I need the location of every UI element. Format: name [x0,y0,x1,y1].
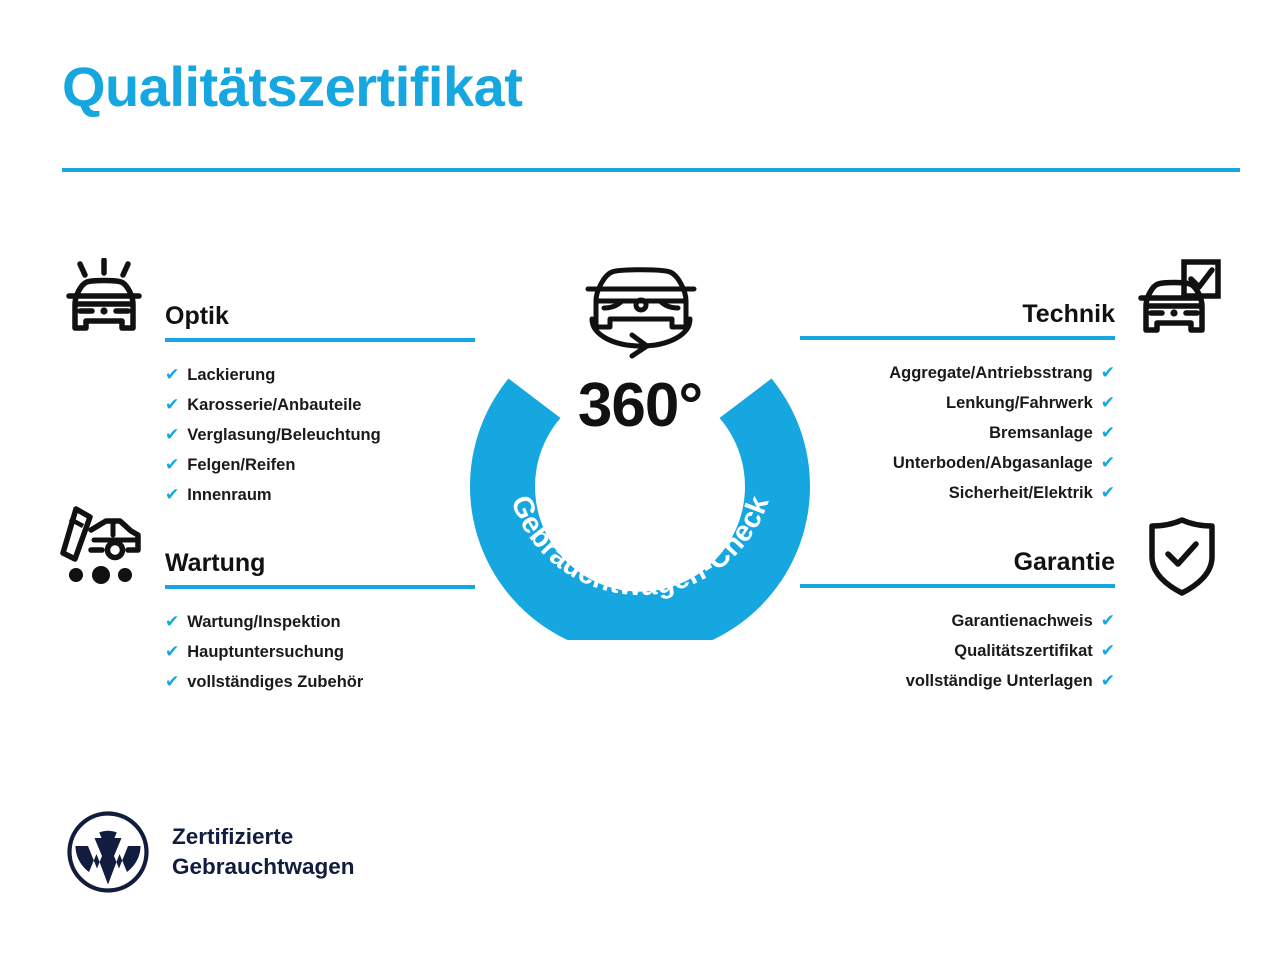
footer-line-2: Gebrauchtwagen [172,852,355,882]
section-optik: Optik ✔Lackierung ✔Karosserie/Anbauteile… [165,300,475,510]
check-icon: ✔ [1101,448,1115,478]
section-wartung-divider [165,585,475,589]
section-technik: Technik Aggregate/Antriebsstrang✔ Lenkun… [800,298,1115,508]
check-icon: ✔ [165,667,179,697]
section-garantie-head: Garantie [800,546,1115,592]
check-icon: ✔ [165,607,179,637]
section-technik-list: Aggregate/Antriebsstrang✔ Lenkung/Fahrwe… [800,358,1115,508]
list-item: ✔Lackierung [165,360,475,390]
list-item-label: Lenkung/Fahrwerk [946,388,1093,418]
list-item-label: Innenraum [187,480,271,510]
section-garantie-title: Garantie [800,546,1115,578]
section-wartung-head: Wartung [165,547,475,593]
check-icon: ✔ [1101,388,1115,418]
gebrauchtwagen-check-badge: Gebrauchtwagen-Check 360° [465,250,815,640]
check-icon: ✔ [165,390,179,420]
shield-check-icon [1146,516,1218,603]
list-item-label: Unterboden/Abgasanlage [893,448,1093,478]
section-optik-head: Optik [165,300,475,346]
car-rotation-icon [568,255,714,365]
section-garantie-list: Garantienachweis✔ Qualitätszertifikat✔ v… [800,606,1115,696]
section-technik-head: Technik [800,298,1115,344]
section-optik-divider [165,338,475,342]
list-item: Lenkung/Fahrwerk✔ [800,388,1115,418]
list-item-label: Karosserie/Anbauteile [187,390,361,420]
footer-line-1: Zertifizierte [172,822,355,852]
list-item: ✔Karosserie/Anbauteile [165,390,475,420]
list-item-label: Bremsanlage [989,418,1093,448]
section-wartung: Wartung ✔Wartung/Inspektion ✔Hauptunters… [165,547,475,697]
section-technik-title: Technik [800,298,1115,330]
list-item: ✔Hauptuntersuchung [165,637,475,667]
check-icon: ✔ [165,637,179,667]
check-icon: ✔ [165,450,179,480]
list-item: Garantienachweis✔ [800,606,1115,636]
title-divider [62,168,1240,172]
list-item: Aggregate/Antriebsstrang✔ [800,358,1115,388]
check-icon: ✔ [165,480,179,510]
section-wartung-list: ✔Wartung/Inspektion ✔Hauptuntersuchung ✔… [165,607,475,697]
list-item: Unterboden/Abgasanlage✔ [800,448,1115,478]
section-optik-list: ✔Lackierung ✔Karosserie/Anbauteile ✔Verg… [165,360,475,510]
list-item-label: Felgen/Reifen [187,450,295,480]
list-item: Sicherheit/Elektrik✔ [800,478,1115,508]
check-icon: ✔ [1101,636,1115,666]
section-wartung-title: Wartung [165,547,475,579]
list-item-label: vollständiges Zubehör [187,667,363,697]
check-icon: ✔ [1101,358,1115,388]
list-item-label: Verglasung/Beleuchtung [187,420,380,450]
list-item-label: Lackierung [187,360,275,390]
list-item-label: Garantienachweis [952,606,1093,636]
list-item: Qualitätszertifikat✔ [800,636,1115,666]
check-icon: ✔ [165,420,179,450]
list-item: Bremsanlage✔ [800,418,1115,448]
section-technik-divider [800,336,1115,340]
footer-lockup: Zertifizierte Gebrauchtwagen [66,810,355,894]
list-item: ✔Innenraum [165,480,475,510]
list-item-label: Sicherheit/Elektrik [949,478,1093,508]
section-optik-title: Optik [165,300,475,332]
check-icon: ✔ [1101,478,1115,508]
list-item: vollständige Unterlagen✔ [800,666,1115,696]
vw-logo [66,810,150,894]
list-item-label: Hauptuntersuchung [187,637,344,667]
list-item: ✔vollständiges Zubehör [165,667,475,697]
section-garantie-divider [800,584,1115,588]
list-item: ✔Felgen/Reifen [165,450,475,480]
section-garantie: Garantie Garantienachweis✔ Qualitätszert… [800,546,1115,696]
badge-center-label: 360° [465,370,815,441]
page-title: Qualitätszertifikat [62,56,522,118]
check-icon: ✔ [1101,418,1115,448]
list-item: ✔Wartung/Inspektion [165,607,475,637]
footer-text: Zertifizierte Gebrauchtwagen [172,822,355,882]
car-shine-icon [60,258,148,349]
list-item-label: Qualitätszertifikat [954,636,1092,666]
list-item-label: vollständige Unterlagen [906,666,1093,696]
service-pencil-car-icon [58,505,150,592]
list-item-label: Wartung/Inspektion [187,607,340,637]
check-icon: ✔ [165,360,179,390]
list-item-label: Aggregate/Antriebsstrang [889,358,1093,388]
check-icon: ✔ [1101,606,1115,636]
car-checkbox-icon [1138,258,1222,349]
list-item: ✔Verglasung/Beleuchtung [165,420,475,450]
check-icon: ✔ [1101,666,1115,696]
